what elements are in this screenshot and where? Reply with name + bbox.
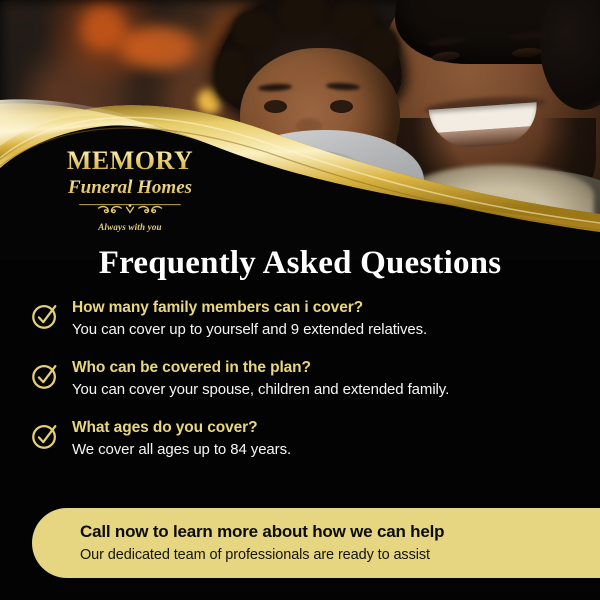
faq-answer: We cover all ages up to 84 years.	[72, 440, 578, 460]
faq-answer: You can cover your spouse, children and …	[72, 380, 578, 400]
ornamental-divider-icon	[60, 202, 200, 216]
faq-item: How many family members can i cover? You…	[30, 298, 578, 339]
page-title: Frequently Asked Questions	[0, 245, 600, 282]
brand-logo: MEMORY Funeral Homes Always with you	[50, 148, 210, 232]
brand-tagline: Always with you	[50, 222, 210, 232]
faq-answer: You can cover up to yourself and 9 exten…	[72, 320, 578, 340]
faq-question: Who can be covered in the plan?	[72, 358, 578, 378]
faq-item: What ages do you cover? We cover all age…	[30, 418, 578, 459]
faq-list: How many family members can i cover? You…	[30, 298, 578, 478]
cta-subtitle: Our dedicated team of professionals are …	[80, 546, 430, 564]
faq-text: How many family members can i cover? You…	[72, 298, 578, 339]
faq-question: What ages do you cover?	[72, 418, 578, 438]
cta-title: Call now to learn more about how we can …	[80, 522, 444, 542]
faq-text: What ages do you cover? We cover all age…	[72, 418, 578, 459]
check-circle-icon	[30, 421, 60, 451]
check-circle-icon	[30, 361, 60, 391]
faq-item: Who can be covered in the plan? You can …	[30, 358, 578, 399]
faq-question: How many family members can i cover?	[72, 298, 578, 318]
brand-name: MEMORY	[50, 148, 210, 174]
check-circle-icon	[30, 301, 60, 331]
faq-poster: MEMORY Funeral Homes Always with you Fre…	[0, 0, 600, 600]
brand-subtitle: Funeral Homes	[50, 176, 210, 200]
cta-banner[interactable]: Call now to learn more about how we can …	[32, 508, 600, 578]
faq-text: Who can be covered in the plan? You can …	[72, 358, 578, 399]
